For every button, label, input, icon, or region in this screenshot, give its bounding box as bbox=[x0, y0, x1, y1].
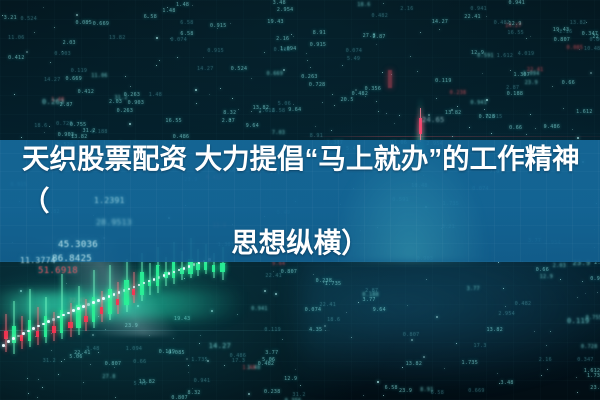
trendline-dot bbox=[2, 344, 5, 347]
ticker-text: 5.06 bbox=[262, 357, 275, 363]
ticker-text: 19.43 bbox=[267, 19, 284, 25]
particle-dot bbox=[195, 89, 197, 91]
trendline-dot bbox=[17, 335, 20, 338]
ticker-text: 9.64 bbox=[288, 107, 301, 113]
secondary-candle bbox=[388, 70, 392, 88]
ticker-text: 18.6 bbox=[357, 2, 370, 8]
trendline-dot bbox=[57, 316, 60, 319]
ticker-text: 0.903 bbox=[128, 100, 145, 106]
ticker-text: 0.941 bbox=[194, 378, 211, 384]
particle-dot bbox=[334, 105, 335, 106]
ticker-text: 0.728 bbox=[56, 121, 73, 127]
ticker-text: 8.91 bbox=[313, 30, 326, 36]
particle-dot bbox=[325, 330, 326, 331]
ticker-text: 2.16 bbox=[539, 357, 552, 363]
particle-dot bbox=[129, 123, 131, 125]
ticker-text: 0.915 bbox=[590, 276, 600, 282]
ticker-text: 1.48 bbox=[51, 97, 64, 103]
particle-dot bbox=[563, 108, 564, 109]
particle-dot bbox=[411, 339, 413, 341]
ticker-text: 0.591 bbox=[477, 53, 494, 59]
ticker-text: 0.188 bbox=[91, 129, 108, 135]
ticker-text: 1.612 bbox=[576, 109, 593, 115]
ticker-text: 0.263 bbox=[117, 108, 134, 114]
ticker-text: 2.03 bbox=[63, 40, 76, 46]
ticker-text: 4.35 bbox=[309, 327, 322, 333]
price-label: 51.6918 bbox=[38, 266, 78, 276]
ticker-text: 3.77 bbox=[265, 350, 278, 356]
ticker-text: 13.82 bbox=[139, 379, 156, 385]
ticker-text: 2.03 bbox=[553, 263, 566, 269]
particle-dot bbox=[402, 367, 403, 368]
particle-dot bbox=[572, 129, 573, 130]
ticker-text: 0.941 bbox=[509, 0, 526, 6]
ticker-text: 2.87 bbox=[506, 85, 519, 91]
ticker-text: 0.119 bbox=[264, 327, 281, 333]
trendline-dot bbox=[143, 282, 146, 285]
ticker-text: 14.27 bbox=[432, 19, 449, 25]
particle-dot bbox=[436, 98, 437, 99]
ticker-text: 0.669 bbox=[93, 21, 110, 27]
ticker-text: 13.82 bbox=[109, 35, 126, 41]
trendline-dot bbox=[72, 309, 75, 312]
particle-dot bbox=[439, 29, 440, 30]
trendline-dot bbox=[128, 288, 131, 291]
particle-dot bbox=[114, 367, 115, 368]
ticker-text: 0.412 bbox=[8, 55, 25, 61]
particle-dot bbox=[27, 378, 28, 379]
ticker-text: 9.64 bbox=[246, 123, 259, 129]
ticker-text: 12.9 bbox=[284, 376, 297, 382]
ticker-text: 31.2 bbox=[292, 392, 305, 398]
particle-dot bbox=[423, 356, 425, 358]
particle-dot bbox=[54, 27, 55, 28]
ticker-text: 0.669 bbox=[468, 388, 485, 394]
particle-dot bbox=[358, 302, 359, 303]
particle-dot bbox=[386, 113, 387, 114]
particle-dot bbox=[259, 111, 261, 113]
ticker-text: 0.66 bbox=[562, 80, 575, 86]
ticker-text: 0.238 bbox=[450, 90, 467, 96]
ticker-text: 8.32 bbox=[223, 110, 236, 116]
ticker-text: 0.074 bbox=[346, 48, 363, 54]
particle-dot bbox=[576, 377, 577, 378]
ticker-text: 7.03 bbox=[272, 130, 285, 136]
ticker-text: 23.9 bbox=[525, 80, 538, 86]
ticker-text: 0.119 bbox=[435, 78, 452, 84]
title-banner: 天织股票配资 大力提倡“马上就办”的工作精神（ 思想纵横） bbox=[0, 140, 600, 262]
particle-dot bbox=[196, 103, 197, 104]
ticker-text: 1.48 bbox=[149, 92, 162, 98]
trendline-dot bbox=[12, 337, 15, 340]
ticker-text: 13.82 bbox=[570, 20, 587, 26]
ticker-text: 0.188 bbox=[507, 91, 524, 97]
trendline-dot bbox=[102, 297, 105, 300]
particle-dot bbox=[510, 70, 511, 71]
ticker-text: 6.58 bbox=[385, 385, 398, 391]
trendline-dot bbox=[138, 284, 141, 287]
particle-dot bbox=[534, 331, 535, 332]
ticker-text: 0.728 bbox=[581, 344, 598, 350]
particle-dot bbox=[546, 345, 547, 346]
trendline-dot bbox=[133, 286, 136, 289]
ticker-text: 0.807 bbox=[171, 395, 188, 400]
ticker-text: 11.06 bbox=[91, 73, 108, 79]
ticker-text: 0.482 bbox=[372, 13, 389, 19]
particle-dot bbox=[550, 331, 551, 332]
particle-dot bbox=[382, 72, 383, 73]
ticker-text: 23.9 bbox=[399, 388, 412, 394]
particle-dot bbox=[275, 293, 277, 295]
trendline-dot bbox=[22, 332, 25, 335]
particle-dot bbox=[417, 71, 418, 72]
trendline-dot bbox=[47, 320, 50, 323]
trendline-dot bbox=[183, 267, 186, 270]
ticker-text: 0.669 bbox=[267, 71, 284, 77]
trendline-dot bbox=[7, 340, 10, 343]
ticker-text: 0.807 bbox=[403, 332, 420, 338]
particle-dot bbox=[577, 392, 578, 393]
trendline-dot bbox=[82, 305, 85, 308]
ticker-text: 0.807 bbox=[554, 37, 571, 43]
particle-dot bbox=[383, 395, 384, 396]
ticker-text: 1.735 bbox=[462, 360, 479, 366]
ticker-text: 0.347 bbox=[582, 31, 599, 37]
ticker-text: 22.41 bbox=[265, 273, 282, 279]
particle-dot bbox=[203, 57, 204, 58]
ticker-text: 13.82 bbox=[253, 105, 270, 111]
trendline-dot bbox=[188, 265, 191, 268]
particle-dot bbox=[399, 115, 400, 116]
particle-dot bbox=[306, 53, 307, 54]
particle-dot bbox=[376, 101, 377, 102]
ticker-text: 0.807 bbox=[281, 269, 298, 275]
particle-dot bbox=[49, 126, 50, 127]
ticker-text: 3.48 bbox=[501, 380, 514, 386]
ticker-text: 23.9 bbox=[590, 385, 600, 391]
ticker-text: 3.77 bbox=[363, 297, 376, 303]
trendline-dot bbox=[52, 318, 55, 321]
particle-dot bbox=[248, 393, 250, 395]
ticker-text: 1.612 bbox=[497, 53, 514, 59]
particle-dot bbox=[331, 130, 332, 131]
trendline-dot bbox=[27, 330, 30, 333]
price-label: 24.65 bbox=[422, 116, 445, 124]
particle-dot bbox=[560, 279, 561, 280]
ticker-text: 3.77 bbox=[467, 286, 480, 292]
ticker-text: 0.524 bbox=[21, 16, 38, 22]
particle-dot bbox=[90, 364, 91, 365]
ticker-text: 27.8 bbox=[102, 374, 115, 380]
particle-dot bbox=[547, 369, 548, 370]
ticker-text: 0.085 bbox=[76, 20, 93, 26]
ticker-text: 2.954 bbox=[498, 311, 515, 317]
ticker-text: 0.941 bbox=[251, 306, 268, 312]
background-haze bbox=[300, 250, 600, 390]
trendline-dot bbox=[158, 276, 161, 279]
trendline-dot bbox=[42, 323, 45, 326]
ticker-text: 0.119 bbox=[71, 68, 88, 74]
trendline-dot bbox=[32, 327, 35, 330]
trendline-dot bbox=[108, 295, 111, 298]
ticker-text: 2.954 bbox=[277, 7, 294, 13]
ticker-text: 0.903 bbox=[54, 51, 71, 57]
ticker-text: 0.915 bbox=[207, 48, 224, 54]
ticker-text: 2.87 bbox=[222, 118, 235, 124]
ticker-text: 0.238 bbox=[264, 389, 281, 395]
banner-image: 0.26312.90.2380.08512.90.9030.1190.11922… bbox=[0, 0, 600, 400]
trendline-dot bbox=[92, 301, 95, 304]
ticker-text: 0.941 bbox=[471, 100, 488, 106]
ticker-text: 12.9 bbox=[540, 274, 553, 280]
ticker-text: 22.41 bbox=[464, 14, 481, 20]
particle-dot bbox=[177, 57, 178, 58]
ticker-text: 22.41 bbox=[320, 302, 337, 308]
particle-dot bbox=[58, 374, 59, 375]
trendline-dot bbox=[97, 299, 100, 302]
ticker-text: 0.66 bbox=[509, 125, 522, 131]
ticker-text: 17.3 bbox=[474, 343, 487, 349]
ticker-text: 10.48 bbox=[584, 46, 600, 52]
banner-title: 天织股票配资 大力提倡“马上就办”的工作精神（ 思想纵横） bbox=[10, 138, 590, 264]
ticker-text: 13.82 bbox=[445, 110, 462, 116]
ticker-text: 0.188 bbox=[274, 47, 291, 53]
particle-dot bbox=[28, 393, 29, 394]
ticker-text: 13.82 bbox=[487, 327, 504, 333]
trendline-dot bbox=[113, 293, 116, 296]
ticker-text: 1.48 bbox=[176, 2, 189, 8]
trendline-dot bbox=[153, 278, 156, 281]
banner-title-line-1: 天织股票配资 大力提倡“马上就办”的工作精神（ bbox=[10, 138, 590, 222]
ticker-text: 0.755 bbox=[586, 315, 600, 321]
trendline-dot bbox=[123, 289, 126, 292]
ticker-text: 1.735 bbox=[325, 281, 342, 287]
ticker-text: 2.16 bbox=[559, 29, 572, 35]
ticker-text: 2.16 bbox=[400, 6, 413, 12]
ticker-text: 0.486 bbox=[544, 124, 561, 130]
particle-dot bbox=[315, 126, 316, 127]
top-candle bbox=[419, 108, 422, 142]
ticker-text: 1.48 bbox=[162, 8, 175, 14]
trendline-dot bbox=[178, 269, 181, 272]
particle-dot bbox=[410, 56, 411, 57]
ticker-text: 0.482 bbox=[494, 20, 511, 26]
ticker-text: 0.66 bbox=[536, 267, 549, 273]
ticker-text: 14.27 bbox=[197, 66, 214, 72]
particle-dot bbox=[526, 38, 527, 39]
particle-dot bbox=[300, 385, 301, 386]
ticker-text: 3.48 bbox=[273, 0, 286, 6]
ticker-text: 0.915 bbox=[310, 42, 327, 48]
particle-dot bbox=[444, 368, 445, 369]
ticker-text: 2.16 bbox=[276, 36, 289, 42]
ticker-text: 5.49 bbox=[347, 56, 360, 62]
ticker-text: 1.612 bbox=[584, 368, 600, 374]
ticker-text: 4.019 bbox=[518, 51, 535, 57]
ticker-text: 2.87 bbox=[373, 34, 386, 40]
ticker-text: 13.82 bbox=[406, 361, 423, 367]
particle-dot bbox=[282, 339, 283, 340]
ticker-text: 0.347 bbox=[577, 357, 594, 363]
ticker-text: 3.21 bbox=[4, 15, 17, 21]
ticker-text: 0.728 bbox=[309, 82, 326, 88]
particle-dot bbox=[293, 104, 294, 105]
ticker-text: 8.91 bbox=[420, 387, 433, 393]
particle-dot bbox=[585, 293, 586, 294]
ticker-text: 0.669 bbox=[66, 76, 83, 82]
ticker-text: 0.412 bbox=[78, 89, 95, 95]
trendline-dot bbox=[62, 314, 65, 317]
trendline-dot bbox=[77, 307, 80, 310]
particle-dot bbox=[590, 72, 592, 74]
ticker-text: 9.64 bbox=[373, 307, 386, 313]
trendline-dot bbox=[163, 274, 166, 277]
banner-title-line-2: 思想纵横） bbox=[10, 222, 590, 264]
ticker-text: 6.58 bbox=[144, 14, 157, 20]
particle-dot bbox=[230, 119, 231, 120]
ticker-text: 0.085 bbox=[567, 45, 584, 51]
trendline-dot bbox=[173, 271, 176, 274]
trendline-dot bbox=[67, 312, 70, 315]
trendline-dot bbox=[148, 280, 151, 283]
particle-dot bbox=[62, 51, 63, 52]
particle-dot bbox=[577, 297, 578, 298]
particle-dot bbox=[499, 383, 500, 384]
particle-dot bbox=[530, 114, 531, 115]
ticker-text: 20.5 bbox=[341, 97, 354, 103]
ticker-text: 0.074 bbox=[305, 307, 322, 313]
particle-dot bbox=[130, 86, 131, 87]
ticker-text: 6.58 bbox=[180, 20, 193, 26]
particle-dot bbox=[167, 7, 168, 8]
particle-dot bbox=[456, 343, 457, 344]
ticker-text: 16.55 bbox=[507, 30, 524, 36]
particle-dot bbox=[324, 325, 326, 327]
ticker-text: 8.32 bbox=[188, 390, 201, 396]
particle-dot bbox=[310, 67, 311, 68]
particle-dot bbox=[26, 51, 28, 53]
particle-dot bbox=[469, 127, 470, 128]
ticker-text: 0.728 bbox=[479, 114, 496, 120]
ticker-text: 0.524 bbox=[231, 66, 248, 72]
ticker-text: 0.482 bbox=[515, 301, 532, 307]
ticker-text: 0.941 bbox=[470, 6, 487, 12]
particle-dot bbox=[224, 365, 225, 366]
ticker-text: 14.27 bbox=[44, 77, 61, 83]
trendline-dot bbox=[37, 325, 40, 328]
ticker-text: 1.48 bbox=[243, 365, 256, 371]
ticker-text: 11.06 bbox=[8, 35, 25, 41]
ticker-text: 0.263 bbox=[301, 74, 318, 80]
ticker-text: 1.094 bbox=[523, 71, 540, 77]
trendline-dot bbox=[168, 272, 171, 275]
ticker-text: 16.55 bbox=[165, 118, 182, 124]
trendline-dot bbox=[87, 303, 90, 306]
particle-dot bbox=[579, 49, 580, 50]
ticker-text: 31.2 bbox=[115, 95, 128, 101]
ticker-text: 0.915 bbox=[210, 23, 227, 29]
particle-dot bbox=[188, 365, 189, 366]
particle-dot bbox=[355, 89, 357, 91]
ticker-text: 0.074 bbox=[171, 37, 188, 43]
particle-dot bbox=[365, 96, 366, 97]
ticker-text: 18.6 bbox=[34, 123, 47, 129]
ticker-text: 18.6 bbox=[327, 317, 340, 323]
trendline-dot bbox=[118, 291, 121, 294]
particle-dot bbox=[323, 282, 324, 283]
guide-line-upper bbox=[300, 136, 600, 137]
ticker-text: 6.58 bbox=[272, 108, 285, 114]
